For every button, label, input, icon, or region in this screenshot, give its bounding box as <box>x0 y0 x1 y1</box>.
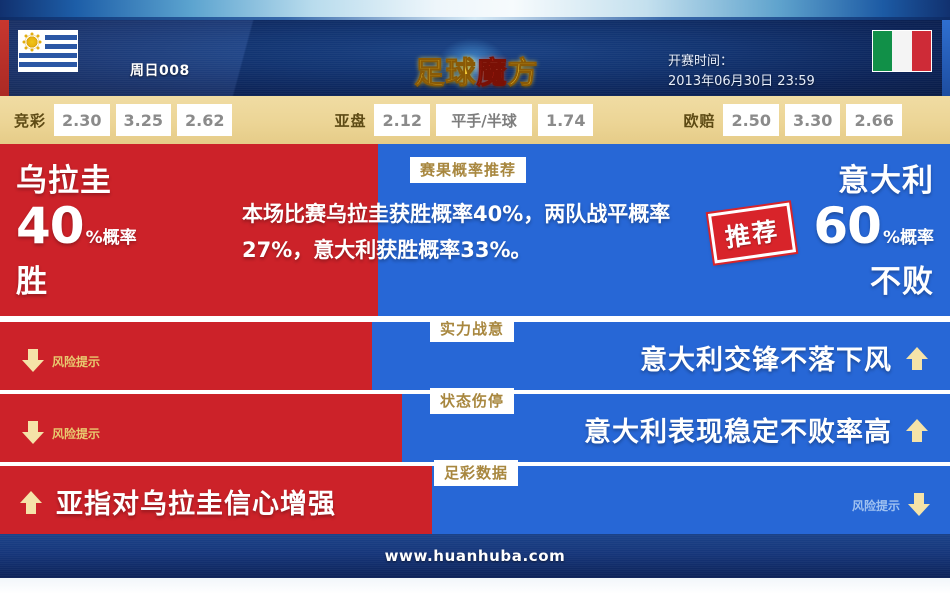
arrow-down-icon <box>22 420 44 446</box>
home-probability-value: 40 <box>16 200 84 252</box>
insight-row-1-label: 意大利交锋不落下风 <box>640 338 892 377</box>
probability-badge: 赛果概率推荐 <box>410 157 526 183</box>
odds-jingcai-home[interactable]: 2.30 <box>54 104 109 136</box>
odds-label-jingcai: 竞彩 <box>14 110 46 131</box>
insight-row-3-label: 亚指对乌拉圭信心增强 <box>56 482 336 521</box>
away-probability-summary: 意大利 60 %概率 不败 <box>813 162 934 300</box>
away-probability-unit: %概率 <box>883 212 934 264</box>
insight-row-2-badge: 状态伤停 <box>430 388 514 414</box>
insight-row-3-right-hint-label: 风险提示 <box>852 497 900 514</box>
match-number: 周日008 <box>130 60 190 80</box>
logo-text: 足球魔方 <box>415 48 539 92</box>
odds-label-yapan: 亚盘 <box>334 110 366 131</box>
insight-row-2-left-hint: 风险提示 <box>22 420 100 446</box>
uruguay-flag-icon <box>18 30 78 72</box>
arrow-down-icon <box>908 492 930 518</box>
insight-row-3-text: 亚指对乌拉圭信心增强 <box>20 482 336 521</box>
insight-row-2-left-hint-label: 风险提示 <box>52 425 100 442</box>
italy-flag-icon <box>872 30 932 72</box>
odds-label-oupei: 欧赔 <box>683 110 715 131</box>
kickoff-time: 开赛时间： 2013年06月30日 23:59 <box>668 52 815 92</box>
logo-part-hot: 魔 <box>477 56 508 91</box>
insight-row-1-left-hint: 风险提示 <box>22 348 100 374</box>
home-verdict: 胜 <box>16 264 137 300</box>
away-team-name: 意大利 <box>813 162 934 200</box>
odds-group-oupei: 欧赔 2.50 3.30 2.66 <box>683 104 907 136</box>
odds-group-yapan: 亚盘 2.12 平手/半球 1.74 <box>334 104 599 136</box>
footer-bar: www.huanhuba.com <box>0 534 950 578</box>
insight-row-2-text: 意大利表现稳定不败率高 <box>584 410 928 449</box>
top-glow-strip <box>0 0 950 20</box>
right-edge-accent <box>942 20 950 96</box>
odds-group-jingcai: 竞彩 2.30 3.25 2.62 <box>14 104 238 136</box>
insight-row-3-badge: 足彩数据 <box>434 460 518 486</box>
insight-row-1-left-hint-label: 风险提示 <box>52 353 100 370</box>
uruguay-canton <box>19 31 45 53</box>
insight-row-2-label: 意大利表现稳定不败率高 <box>584 410 892 449</box>
italy-flag-graphic <box>873 31 931 71</box>
away-probability-value: 60 <box>813 200 881 252</box>
insight-row-1-text: 意大利交锋不落下风 <box>640 338 928 377</box>
home-probability-summary: 乌拉圭 40 %概率 胜 <box>16 162 137 300</box>
insight-row-1-badge: 实力战意 <box>430 316 514 342</box>
home-team-name: 乌拉圭 <box>16 162 137 200</box>
footer-base-strip <box>0 578 950 594</box>
kickoff-label: 开赛时间： <box>668 52 815 72</box>
arrow-up-icon <box>906 345 928 371</box>
site-logo[interactable]: 足球魔方 <box>409 46 544 94</box>
odds-yapan-handicap[interactable]: 平手/半球 <box>436 104 532 136</box>
footer-url[interactable]: www.huanhuba.com <box>385 547 566 565</box>
arrow-up-icon <box>906 417 928 443</box>
logo-part-2: 方 <box>508 56 539 91</box>
odds-jingcai-away[interactable]: 2.62 <box>177 104 232 136</box>
left-edge-accent <box>0 20 9 96</box>
arrow-up-icon <box>20 489 42 515</box>
home-probability-unit: %概率 <box>86 212 137 264</box>
odds-oupei-home[interactable]: 2.50 <box>723 104 778 136</box>
uruguay-flag-graphic <box>19 31 77 71</box>
odds-jingcai-draw[interactable]: 3.25 <box>116 104 171 136</box>
odds-yapan-home[interactable]: 2.12 <box>374 104 429 136</box>
logo-part-1: 足球 <box>415 56 477 91</box>
match-header: 周日008 足球魔方 开赛时间： 2013年06月30日 23:59 <box>0 20 950 96</box>
odds-oupei-away[interactable]: 2.66 <box>846 104 901 136</box>
away-verdict: 不败 <box>813 264 934 300</box>
odds-bar: 竞彩 2.30 3.25 2.62 亚盘 2.12 平手/半球 1.74 欧赔 … <box>0 96 950 144</box>
sun-of-may-icon <box>25 36 38 49</box>
odds-oupei-draw[interactable]: 3.30 <box>785 104 840 136</box>
probability-summary-text: 本场比赛乌拉圭获胜概率40%，两队战平概率27%，意大利获胜概率33%。 <box>242 196 674 268</box>
kickoff-value: 2013年06月30日 23:59 <box>668 72 815 92</box>
arrow-down-icon <box>22 348 44 374</box>
insight-row-3-right-hint: 风险提示 <box>852 492 930 518</box>
prediction-infographic: 周日008 足球魔方 开赛时间： 2013年06月30日 23:59 竞彩 2.… <box>0 0 950 594</box>
odds-yapan-away[interactable]: 1.74 <box>538 104 593 136</box>
